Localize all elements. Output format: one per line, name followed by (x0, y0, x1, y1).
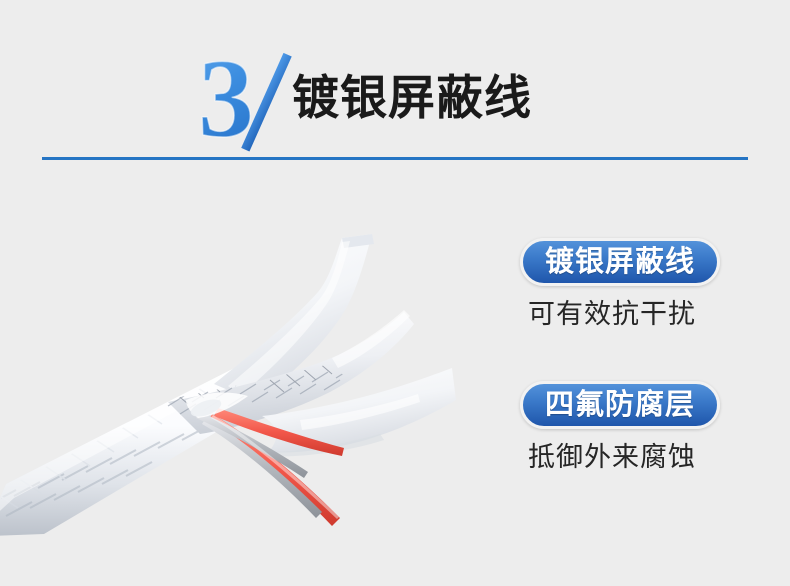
step-number-graphic: 3 3 (192, 44, 304, 152)
feature-item: 四氟防腐层 抵御外来腐蚀 (520, 381, 760, 474)
feature-badge-shield: 镀银屏蔽线 (520, 238, 720, 286)
product-photo (0, 186, 470, 536)
page-title: 镀银屏蔽线 (292, 68, 532, 128)
feature-item: 镀银屏蔽线 可有效抗干扰 (520, 238, 760, 331)
feature-list: 镀银屏蔽线 可有效抗干扰 四氟防腐层 抵御外来腐蚀 (520, 238, 760, 524)
header-divider (42, 157, 748, 160)
step-number-three-glyph: 3 3 (198, 44, 254, 152)
feature-subtitle-ptfe: 抵御外来腐蚀 (528, 440, 760, 474)
feature-badge-ptfe: 四氟防腐层 (520, 381, 720, 429)
product-feature-banner: 3 3 镀银屏蔽线 (0, 0, 790, 586)
banner-header: 3 3 镀银屏蔽线 (0, 0, 790, 165)
feature-subtitle-shield: 可有效抗干扰 (528, 297, 760, 331)
svg-text:3: 3 (198, 44, 254, 152)
